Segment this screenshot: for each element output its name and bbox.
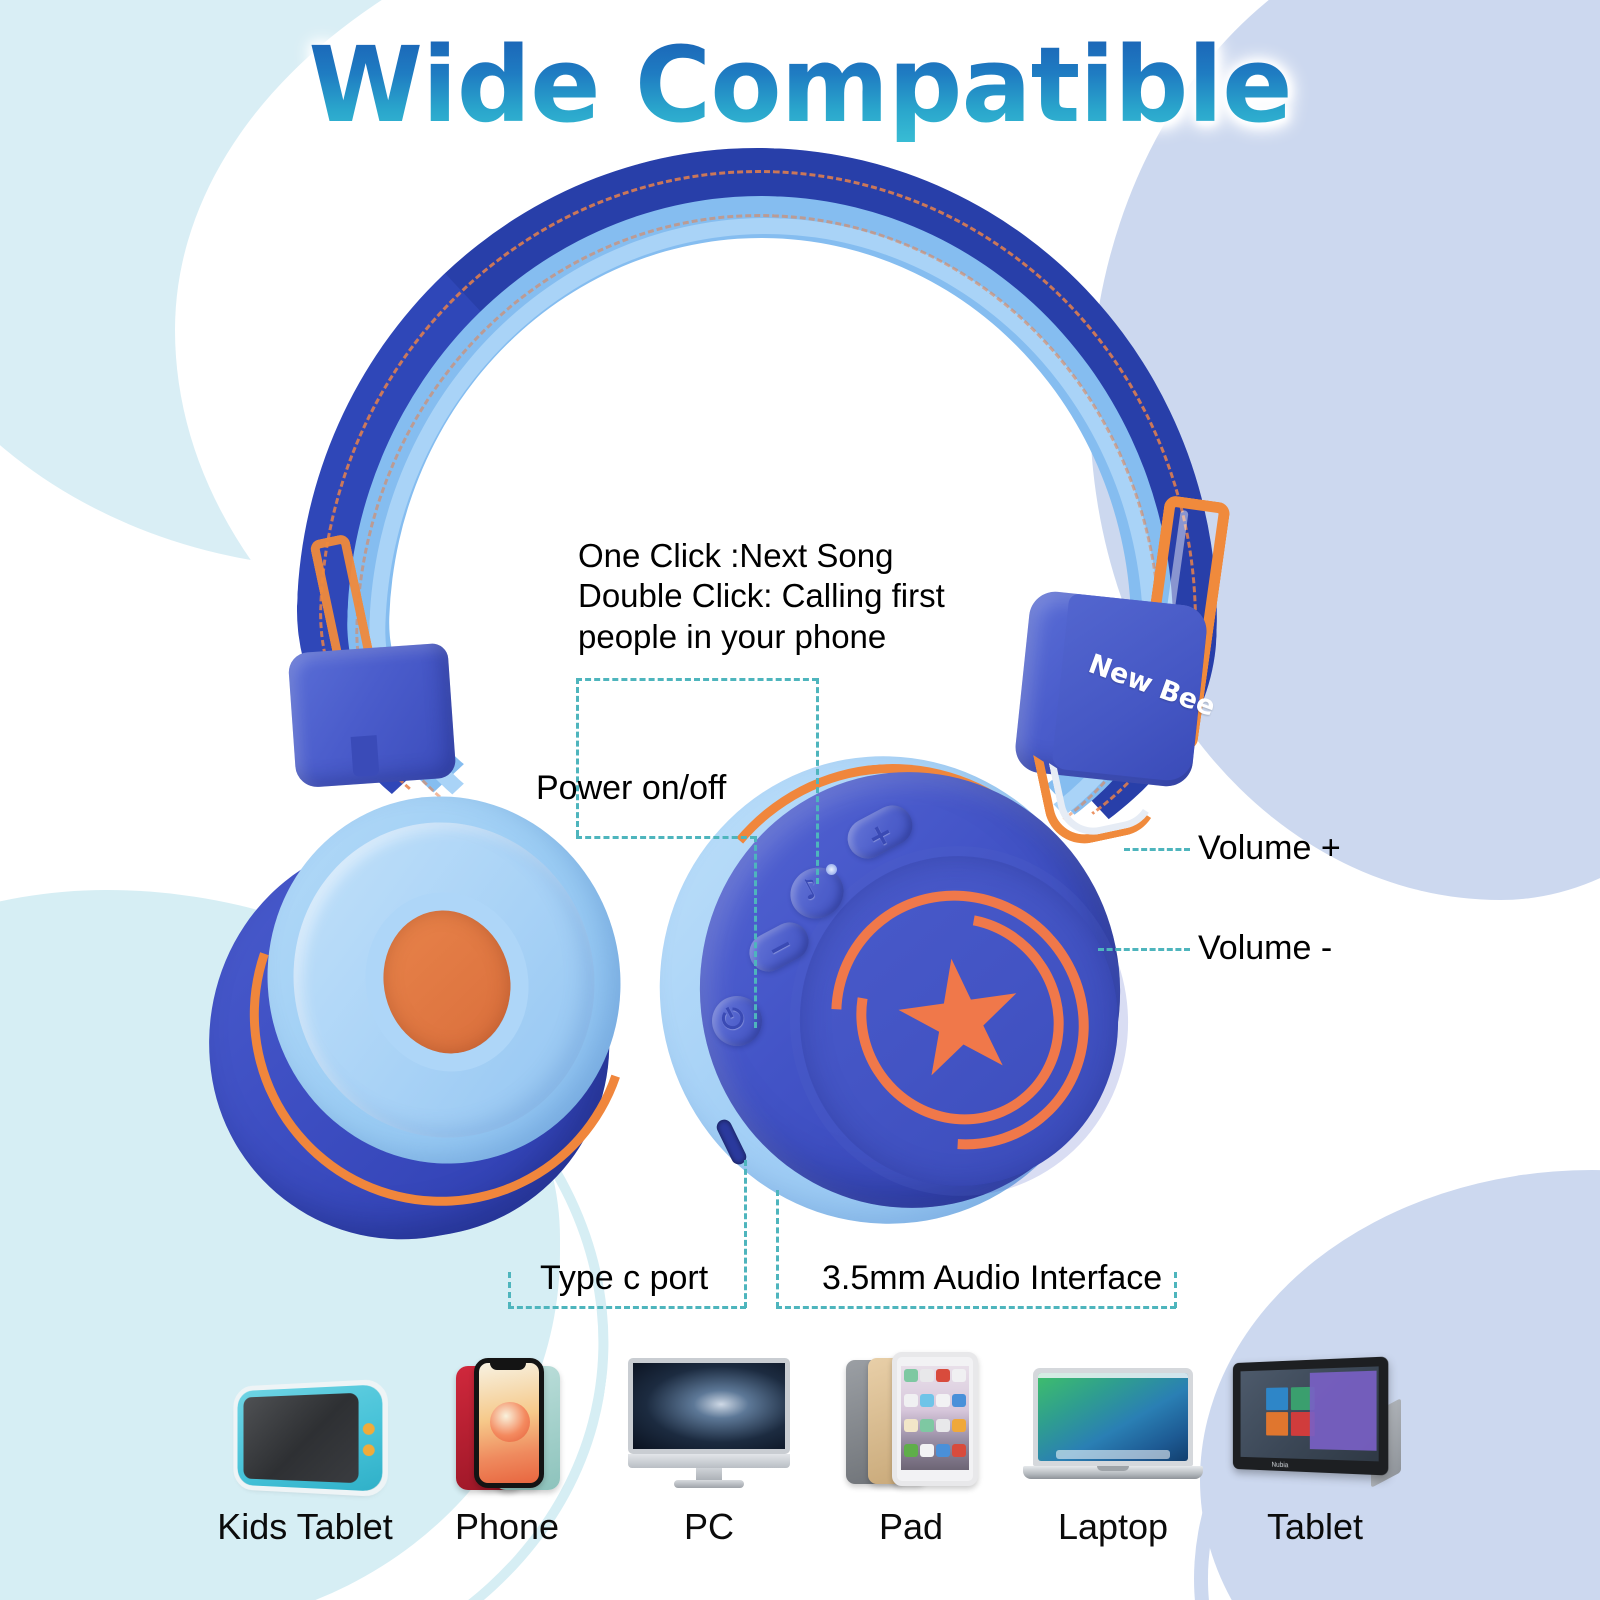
device-item-pc: PC [614,1330,804,1548]
leader-line-click-horizontal [576,678,818,681]
compatible-devices-row: Kids Tablet Phone [210,1330,1410,1548]
ear-cup-yoke-left-notch [351,735,380,777]
device-item-laptop: Laptop [1018,1330,1208,1548]
callout-type-c-port: Type c port [540,1258,708,1299]
device-label-pc: PC [614,1506,804,1548]
status-led-indicator [826,864,837,875]
kids-tablet-icon [210,1330,400,1488]
leader-line-audio-vertical-right [1174,1272,1177,1308]
callout-click-instructions: One Click :Next Song Double Click: Calli… [578,536,945,657]
leader-line-volume-down [1098,948,1190,951]
tablet-pad-icon [816,1330,1006,1488]
windows-tablet-icon: Nubia [1220,1330,1410,1488]
device-item-tablet: Nubia Tablet [1220,1330,1410,1548]
callout-audio-interface: 3.5mm Audio Interface [822,1258,1162,1299]
phone-icon [412,1330,602,1488]
leader-line-power-horizontal [576,836,756,839]
device-item-phone: Phone [412,1330,602,1548]
headphones-illustration: + ♪ − ⏻ New Bee [0,0,1600,1340]
device-label-phone: Phone [412,1506,602,1548]
device-label-pad: Pad [816,1506,1006,1548]
callout-volume-down: Volume - [1198,928,1332,969]
device-label-tablet: Tablet [1220,1506,1410,1548]
leader-line-audio-vertical [776,1190,779,1308]
callout-volume-up: Volume + [1198,828,1341,869]
leader-line-volume-up [1124,848,1190,851]
leader-line-type-c-horizontal [508,1306,746,1309]
leader-line-type-c-vertical [744,1160,747,1308]
callout-power-on-off: Power on/off [536,768,726,809]
leader-line-click-vertical-left [576,678,579,836]
infographic-page: Wide Compatible + ♪ − [0,0,1600,1600]
device-label-laptop: Laptop [1018,1506,1208,1548]
device-item-kids-tablet: Kids Tablet [210,1330,400,1548]
leader-line-audio-horizontal [776,1306,1176,1309]
device-item-pad: Pad [816,1330,1006,1548]
leader-line-type-c-vertical-left [508,1272,511,1308]
laptop-icon [1018,1330,1208,1488]
leader-line-click-vertical-right [816,678,819,884]
device-label-kids-tablet: Kids Tablet [210,1506,400,1548]
leader-line-power-vertical [754,836,757,1028]
desktop-computer-icon [614,1330,804,1488]
